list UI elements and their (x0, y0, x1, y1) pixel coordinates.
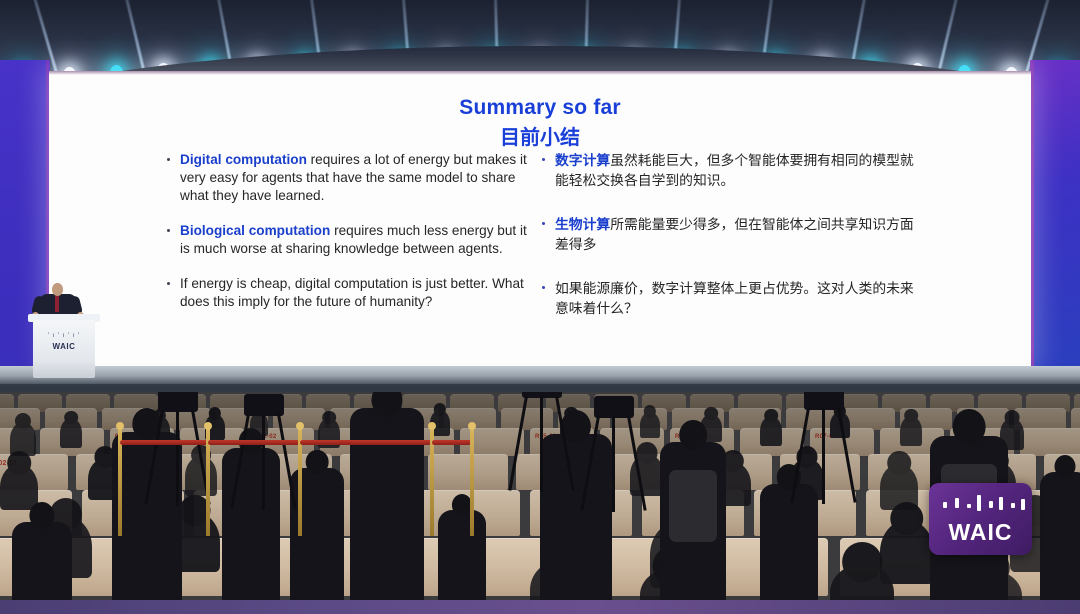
audience-seat (1071, 408, 1080, 430)
slide-bullet: 如果能源廉价，数字计算整体上更占优势。这对人类的未来意味着什么？ (536, 279, 926, 318)
slide-bullet-highlight: 数字计算 (555, 153, 610, 168)
slide-title-english: Summary so far (49, 96, 1031, 120)
red-rope (300, 440, 432, 445)
speaker-tie (55, 296, 59, 312)
audience-member-head (15, 413, 31, 429)
podium-logo-marks: ' ı ' ı ' ı ' (33, 333, 95, 339)
audience-member-head (209, 407, 221, 419)
standing-attendee (1040, 472, 1080, 614)
light-beam (116, 0, 149, 76)
waic-logo-bar (967, 504, 971, 508)
tripod-leg (822, 408, 825, 504)
slide-bullet-text: If energy is cheap, digital computation … (180, 276, 524, 309)
standing-attendee (438, 510, 486, 614)
rope-stanchion-top (296, 422, 304, 430)
audience-member-head (1005, 410, 1020, 425)
slide-bullet: 生物计算所需能量要少得多，但在智能体之间共享知识方面差得多 (536, 215, 926, 254)
standing-attendee (222, 448, 280, 614)
slide-bullets-english: Digital computation requires a lot of en… (161, 151, 529, 329)
ceiling (0, 0, 1080, 76)
audience-member-head (434, 403, 446, 415)
slide-bullet: If energy is cheap, digital computation … (161, 275, 529, 311)
light-beam (305, 0, 325, 76)
audience-seat (428, 454, 508, 490)
light-beam (846, 0, 872, 76)
audience-member (640, 412, 660, 438)
speaker-head (52, 283, 63, 296)
audience-member-head (322, 411, 336, 425)
bottom-bar (0, 600, 1080, 614)
tripod-leg (176, 410, 179, 506)
standing-attendee (760, 484, 818, 614)
standing-attendee (112, 432, 182, 614)
video-camera (594, 396, 634, 418)
light-beam (399, 0, 412, 76)
rope-stanchion-top (116, 422, 124, 430)
red-rope (432, 440, 472, 445)
waic-logo-bar (989, 501, 993, 508)
slide-bullet: Digital computation requires a lot of en… (161, 151, 529, 205)
audience-member-head (904, 409, 918, 423)
audience-member (0, 464, 38, 510)
presentation-slide: Summary so far 目前小结 Digital computation … (49, 71, 1031, 366)
slide-title-chinese: 目前小结 (49, 121, 1031, 150)
light-beam (584, 0, 590, 76)
tripod-leg (262, 414, 265, 510)
light-beam (210, 0, 236, 76)
audience-area: 04-0405-04R01-02R02-02R05-01R06-01R07-01… (0, 392, 1080, 614)
waic-logo: WAIC (929, 483, 1032, 555)
standing-attendee-head (953, 409, 986, 445)
standing-attendee-head (29, 502, 54, 530)
slide-bullet-highlight: Digital computation (180, 152, 307, 167)
audience-seat (501, 408, 553, 430)
audience-member-head (7, 451, 31, 475)
audience-member (60, 418, 82, 448)
standing-attendee-head (1055, 455, 1076, 478)
audience-seat (1020, 428, 1080, 456)
waic-logo-bar (955, 498, 959, 508)
audience-member-head (64, 411, 78, 425)
screen-top-shadow (49, 71, 1031, 75)
podium-logo-text: WAIC (33, 342, 95, 351)
standing-attendee-head (679, 420, 707, 450)
rope-stanchion (470, 428, 474, 536)
waic-logo-bar (1011, 503, 1015, 508)
projection-screen: Summary so far 目前小结 Digital computation … (49, 71, 1031, 366)
waic-logo-bar (943, 502, 947, 508)
audience-member-head (887, 451, 911, 475)
audience-member (900, 416, 922, 446)
waic-logo-text: WAIC (929, 519, 1032, 546)
audience-member (880, 520, 934, 584)
light-beam (759, 0, 779, 76)
slide-bullet-text: 如果能源廉价，数字计算整体上更占优势。这对人类的未来意味着什么？ (555, 281, 914, 316)
conference-hall-photo: Summary so far 目前小结 Digital computation … (0, 0, 1080, 614)
standing-attendee-head (371, 392, 402, 417)
tripod-leg (540, 396, 543, 492)
red-rope (120, 440, 208, 445)
audience-member-head (644, 405, 656, 417)
audience-member-head (704, 407, 718, 421)
podium: ' ı ' ı ' ı ' WAIC (33, 320, 95, 378)
stage-panel-right (1034, 60, 1080, 372)
slide-bullet: Biological computation requires much les… (161, 222, 529, 258)
waic-logo-bar (999, 497, 1003, 510)
standing-attendee (540, 434, 612, 614)
rope-stanchion-top (428, 422, 436, 430)
slide-bullet-highlight: 生物计算 (555, 217, 610, 232)
standing-attendee-head (306, 450, 329, 475)
audience-member-head (842, 542, 882, 582)
audience-member-head (764, 409, 778, 423)
audience-seat (843, 408, 895, 430)
rope-stanchion-top (204, 422, 212, 430)
waic-logo-bar (977, 495, 981, 511)
audience-member-head (636, 442, 657, 463)
light-beam (671, 0, 684, 76)
rope-stanchion-top (468, 422, 476, 430)
standing-attendee (350, 408, 424, 614)
video-camera (244, 394, 284, 416)
slide-bullets-chinese: 数字计算虽然耗能巨大，但多个智能体要拥有相同的模型就能轻松交换各自学到的知识。生… (536, 151, 926, 343)
waic-logo-bar (1021, 499, 1025, 510)
waic-logo-bars (929, 495, 1032, 516)
slide-bullet: 数字计算虽然耗能巨大，但多个智能体要拥有相同的模型就能轻松交换各自学到的知识。 (536, 151, 926, 190)
audience-member (760, 416, 782, 446)
audience-member-head (890, 502, 923, 535)
slide-bullet-highlight: Biological computation (180, 223, 330, 238)
backpack (669, 470, 717, 542)
tripod-leg (612, 416, 615, 512)
light-beam (493, 0, 499, 76)
red-rope (208, 440, 300, 445)
